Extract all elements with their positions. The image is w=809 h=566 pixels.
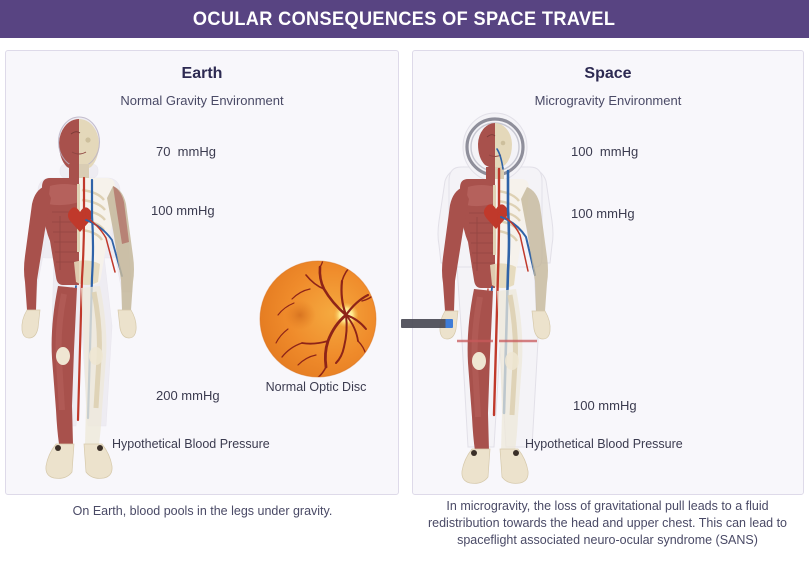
space-legs-pressure: 100 mmHg — [573, 398, 637, 413]
earth-head-pressure: 70 mmHg — [156, 144, 216, 159]
panel-space-title: Space — [413, 65, 803, 83]
source-watermark — [401, 319, 453, 328]
space-bp-label: Hypothetical Blood Pressure — [525, 437, 683, 451]
panel-space-subtitle: Microgravity Environment — [413, 93, 803, 108]
fundus-normal: Normal Optic Disc — [258, 259, 378, 384]
earth-bp-label: Hypothetical Blood Pressure — [112, 437, 270, 451]
header-banner: OCULAR CONSEQUENCES OF SPACE TRAVEL — [0, 0, 809, 38]
caption-earth: On Earth, blood pools in the legs under … — [30, 503, 375, 520]
page-title: OCULAR CONSEQUENCES OF SPACE TRAVEL — [193, 8, 615, 31]
space-head-pressure: 100 mmHg — [571, 144, 638, 159]
panel-earth-subtitle: Normal Gravity Environment — [6, 93, 398, 108]
earth-heart-pressure: 100 mmHg — [151, 203, 215, 218]
panel-earth-title: Earth — [6, 65, 398, 83]
panel-earth: Earth Normal Gravity Environment — [5, 50, 399, 495]
caption-space: In microgravity, the loss of gravitation… — [415, 498, 800, 549]
fundus-normal-caption: Normal Optic Disc — [256, 380, 376, 394]
earth-legs-pressure: 200 mmHg — [156, 388, 220, 403]
panel-space: Space Microgravity Environment — [412, 50, 804, 495]
space-heart-pressure: 100 mmHg — [571, 206, 635, 221]
